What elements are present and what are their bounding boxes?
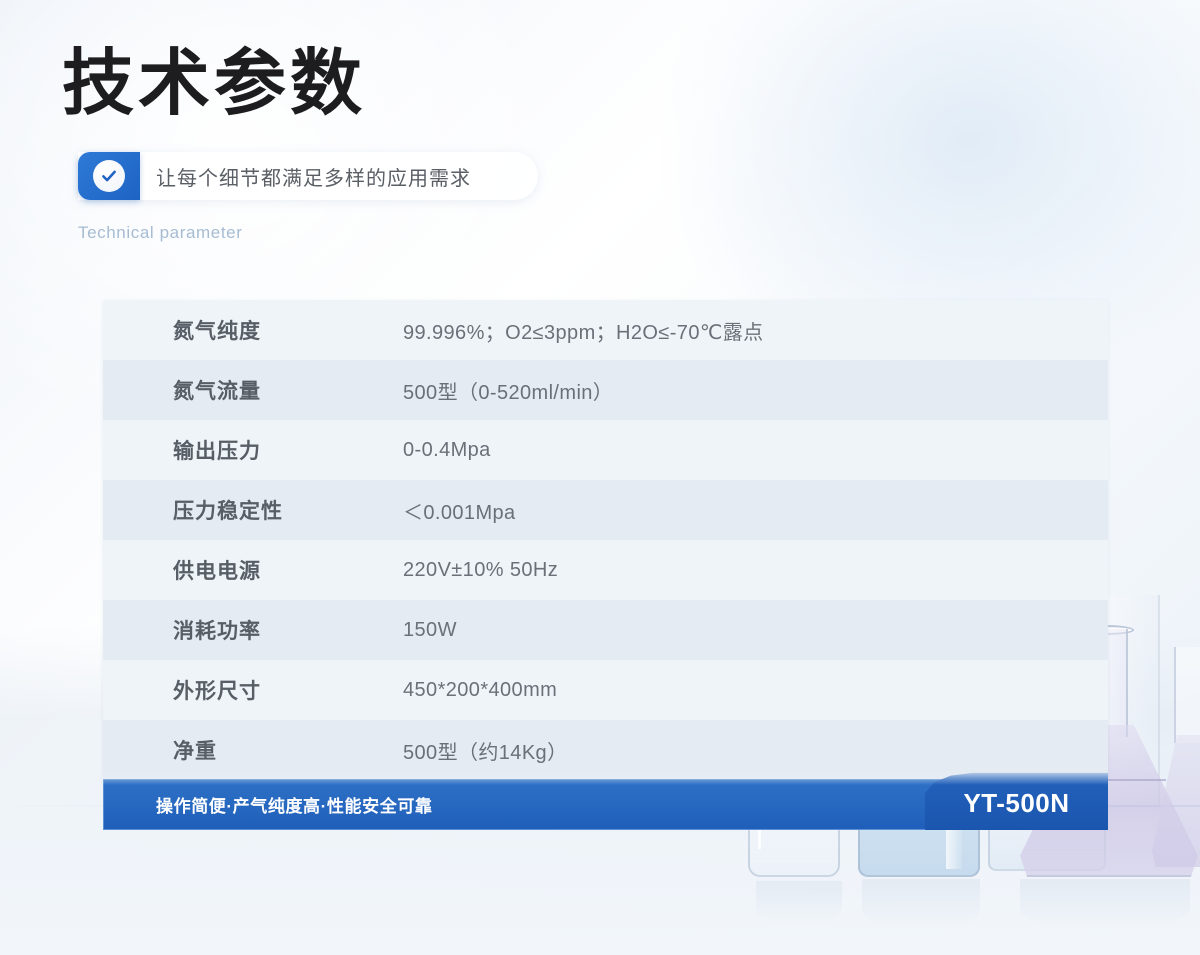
spec-row: 外形尺寸450*200*400mm [103,660,1108,720]
spec-label: 供电电源 [173,555,403,585]
spec-value: ＜0.001Mpa [403,496,516,525]
spec-row: 氮气纯度99.996%；O2≤3ppm；H2O≤-70℃露点 [103,300,1108,360]
footer-feature-text: 操作简便·产气纯度高·性能安全可靠 [156,792,433,817]
glass-reflection [1020,879,1190,929]
spec-row: 氮气流量500型（0-520ml/min） [103,360,1108,420]
spec-label: 外形尺寸 [173,675,403,705]
spec-value: 99.996%；O2≤3ppm；H2O≤-70℃露点 [403,316,764,345]
spec-label: 氮气流量 [173,375,403,405]
spec-label: 压力稳定性 [173,495,403,525]
spec-value: 450*200*400mm [403,679,557,702]
model-number: YT-500N [963,788,1069,819]
glass-reflection [756,881,842,925]
spec-value: 150W [403,619,457,642]
spec-label: 消耗功率 [173,615,403,645]
tagline-text: 让每个细节都满足多样的应用需求 [156,152,471,200]
spec-row: 压力稳定性＜0.001Mpa [103,480,1108,540]
spec-table: 氮气纯度99.996%；O2≤3ppm；H2O≤-70℃露点氮气流量500型（0… [103,300,1108,780]
page-title: 技术参数 [62,48,366,120]
check-circle-icon [93,160,125,192]
spec-label: 输出压力 [173,435,403,465]
table-bottom-fade [103,769,1108,785]
spec-row: 消耗功率150W [103,600,1108,660]
erlenmeyer-flask-small-image [1152,647,1200,867]
check-badge [78,152,140,200]
spec-value: 220V±10% 50Hz [403,559,558,582]
glass-reflection [862,879,980,929]
spec-row: 供电电源220V±10% 50Hz [103,540,1108,600]
spec-row: 输出压力0-0.4Mpa [103,420,1108,480]
spec-label: 净重 [173,735,403,765]
spec-value: 500型（0-520ml/min） [403,376,613,405]
spec-value: 500型（约14Kg） [403,736,567,765]
spec-label: 氮气纯度 [173,315,403,345]
spec-value: 0-0.4Mpa [403,439,491,462]
flask-body [1152,735,1200,867]
subtitle-english: Technical parameter [78,223,242,243]
flask-neck [1174,647,1200,743]
